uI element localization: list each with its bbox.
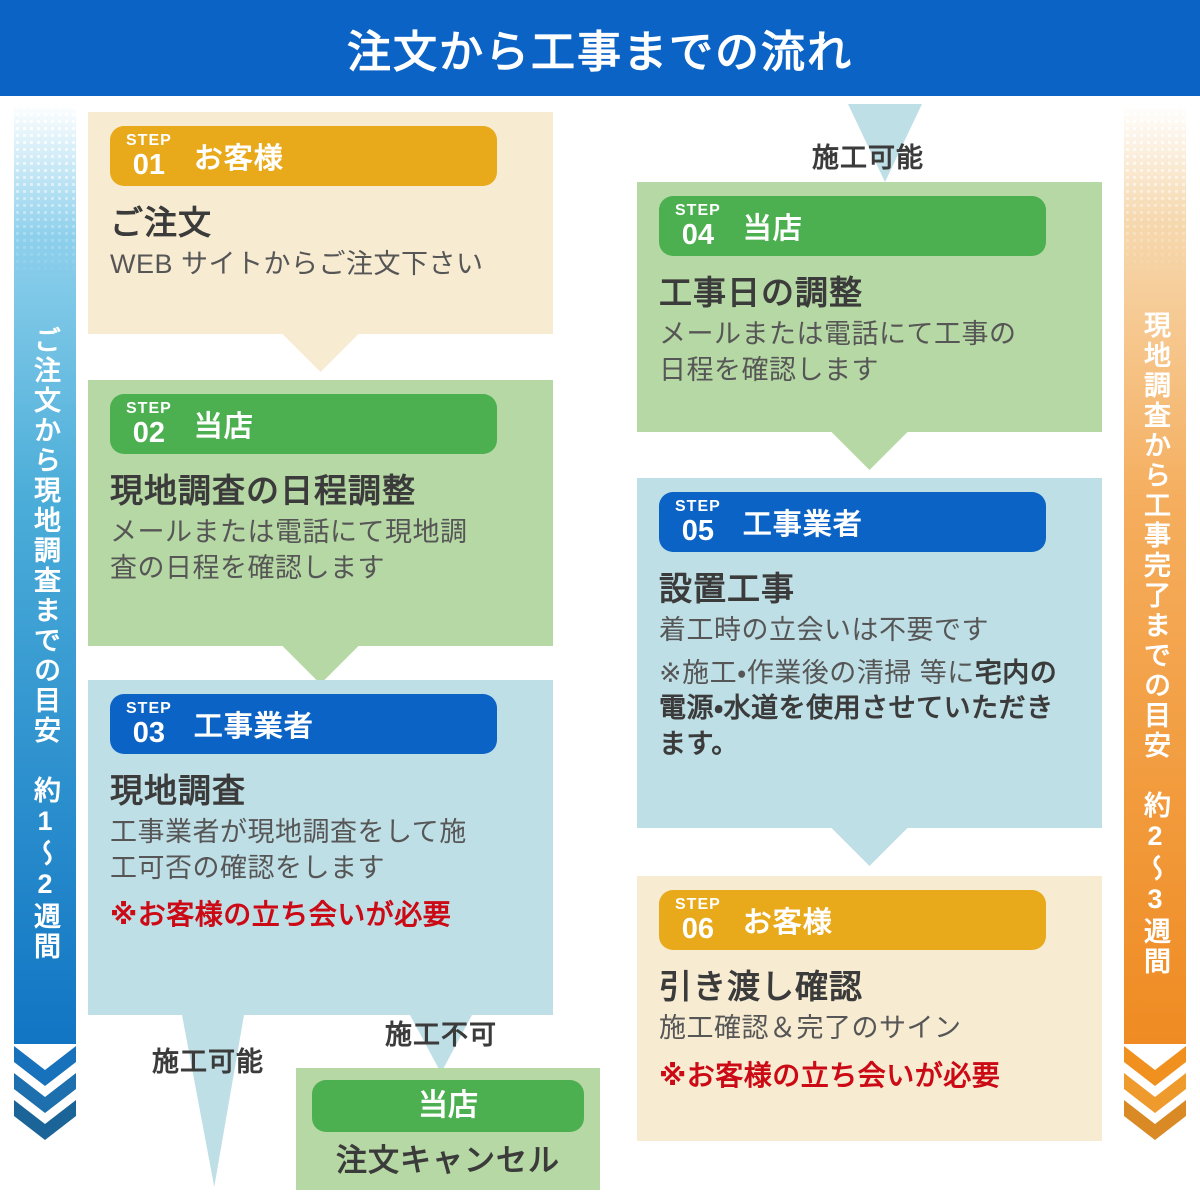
halftone-dots-pattern <box>14 104 76 279</box>
right-rail-chevrons <box>1124 1046 1186 1144</box>
step-warning: ※お客様の立ち会いが必要 <box>110 893 531 933</box>
page-header: 注文から工事までの流れ <box>0 0 1200 96</box>
step-number: 03 <box>133 719 165 748</box>
step-body: メールまたは電話にて現地調 査の日程を確認します <box>110 515 531 586</box>
step-title: 設置工事 <box>659 562 1080 610</box>
step-title: 工事日の調整 <box>659 266 1080 314</box>
step-badge-03: STEP 03 工事業者 <box>110 694 497 754</box>
step-card-06[interactable]: STEP 06 お客様 引き渡し確認 施工確認＆完了のサイン ※お客様の立ち会い… <box>637 876 1102 1141</box>
step-number: 02 <box>133 419 165 448</box>
step-title: 現地調査 <box>110 764 531 812</box>
card-arrow-notch <box>832 432 908 470</box>
step-title: 現地調査の日程調整 <box>110 464 531 512</box>
step-number-block: STEP 05 <box>675 499 721 546</box>
step-card-01[interactable]: STEP 01 お客様 ご注文 WEB サイトからご注文下さい <box>88 112 553 334</box>
step-body: 着工時の立会いは不要です <box>659 613 1080 649</box>
step-card-03[interactable]: STEP 03 工事業者 現地調査 工事業者が現地調査をして施 工可否の確認をし… <box>88 680 553 1015</box>
step-title: 引き渡し確認 <box>659 960 1080 1008</box>
step-role: お客様 <box>743 899 833 941</box>
step-body: 施工確認＆完了のサイン <box>659 1011 1080 1047</box>
step-badge-04: STEP 04 当店 <box>659 196 1046 256</box>
step-title: ご注文 <box>110 196 531 244</box>
step-word: STEP <box>675 203 721 219</box>
step-body: WEB サイトからご注文下さい <box>110 247 531 283</box>
step-role: 工事業者 <box>194 703 314 745</box>
step-number: 04 <box>682 221 714 250</box>
step-badge-06: STEP 06 お客様 <box>659 890 1046 950</box>
card-arrow-notch <box>283 646 359 684</box>
step-badge-02: STEP 02 当店 <box>110 394 497 454</box>
step-word: STEP <box>675 499 721 515</box>
step-word: STEP <box>675 897 721 913</box>
step-badge-01: STEP 01 お客様 <box>110 126 497 186</box>
step-badge-05: STEP 05 工事業者 <box>659 492 1046 552</box>
flow-label-construction-possible: 施工可能 <box>152 1040 264 1079</box>
step-number-block: STEP 02 <box>126 401 172 448</box>
step-word: STEP <box>126 401 172 417</box>
step-warning: ※お客様の立ち会いが必要 <box>659 1054 1080 1094</box>
chevron-down-icon <box>1124 1046 1186 1086</box>
step-body: メールまたは電話にて工事の 日程を確認します <box>659 317 1080 388</box>
left-rail-chevrons <box>14 1046 76 1144</box>
step-note: ※施工・作業後の清掃 等に宅内の電源・水道を使用させていただきます。 <box>659 656 1080 763</box>
step-role: お客様 <box>194 135 284 177</box>
step-role: 工事業者 <box>743 501 863 543</box>
step-number: 05 <box>682 517 714 546</box>
left-rail-label: ご注文から現地調査までの目安 約1〜2週間 <box>14 254 76 1034</box>
step-role: 当店 <box>194 403 254 445</box>
step-word: STEP <box>126 133 172 149</box>
right-rail-label: 現地調査から工事完了までの目安 約2〜3週間 <box>1124 254 1186 1034</box>
halftone-dots-pattern <box>1124 104 1186 279</box>
cancel-label: 注文キャンセル <box>312 1135 584 1180</box>
left-timeline-rail: ご注文から現地調査までの目安 約1〜2週間 <box>14 104 76 1104</box>
step-card-02[interactable]: STEP 02 当店 現地調査の日程調整 メールまたは電話にて現地調 査の日程を… <box>88 380 553 646</box>
step-number: 06 <box>682 915 714 944</box>
step-number: 01 <box>133 151 165 180</box>
order-cancel-card[interactable]: 当店 注文キャンセル <box>296 1068 600 1190</box>
step-card-05[interactable]: STEP 05 工事業者 設置工事 着工時の立会いは不要です ※施工・作業後の清… <box>637 478 1102 828</box>
step-number-block: STEP 03 <box>126 701 172 748</box>
step-note-plain: ※施工・作業後の清掃 等に <box>659 658 975 688</box>
flow-label-construction-possible-top: 施工可能 <box>812 136 924 175</box>
step-word: STEP <box>126 701 172 717</box>
step-number-block: STEP 06 <box>675 897 721 944</box>
step-role: 当店 <box>743 205 803 247</box>
card-arrow-notch <box>283 334 359 372</box>
flow-label-construction-not-possible: 施工不可 <box>385 1013 497 1052</box>
step-card-04[interactable]: STEP 04 当店 工事日の調整 メールまたは電話にて工事の 日程を確認します <box>637 182 1102 432</box>
page-title: 注文から工事までの流れ <box>347 16 853 80</box>
card-arrow-notch <box>832 828 908 866</box>
step-body: 工事業者が現地調査をして施 工可否の確認をします <box>110 815 531 886</box>
right-timeline-rail: 現地調査から工事完了までの目安 約2〜3週間 <box>1124 104 1186 1104</box>
step-number-block: STEP 04 <box>675 203 721 250</box>
step-number-block: STEP 01 <box>126 133 172 180</box>
chevron-down-icon <box>14 1046 76 1086</box>
cancel-role-badge: 当店 <box>312 1080 584 1132</box>
